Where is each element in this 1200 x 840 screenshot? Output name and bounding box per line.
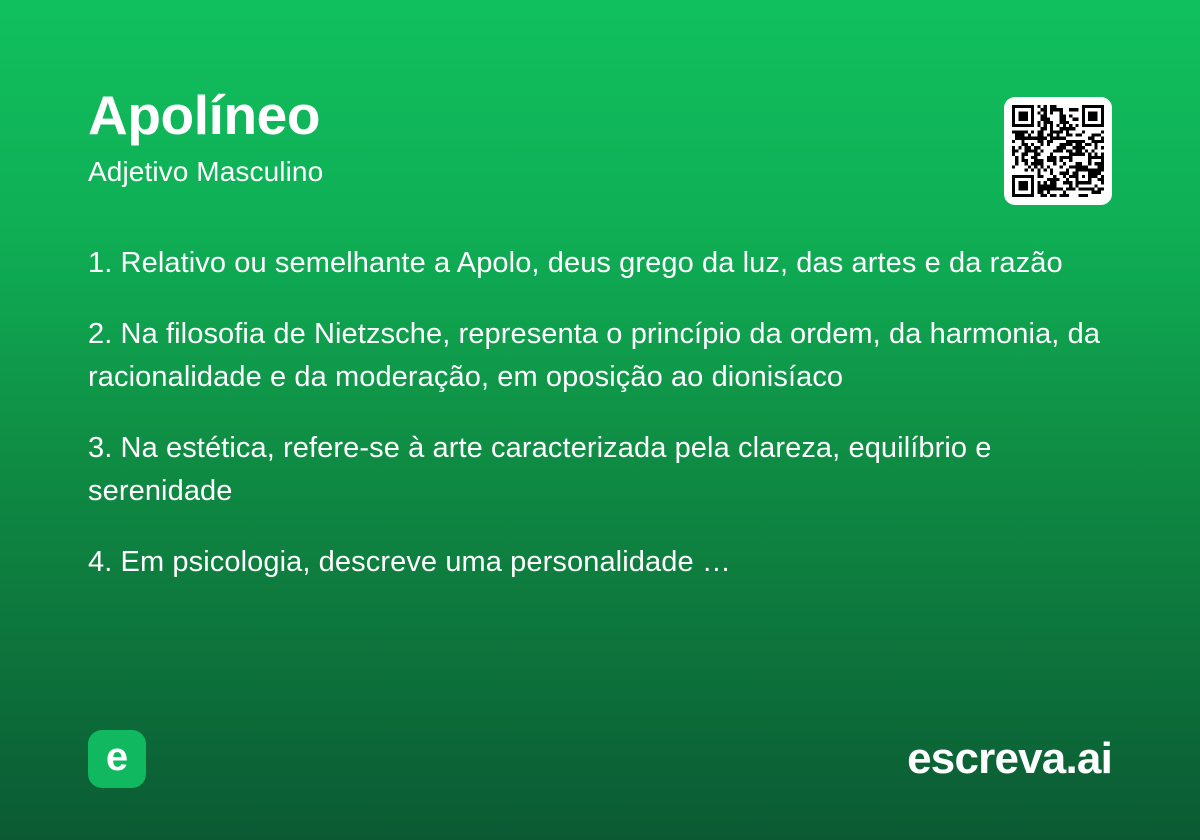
definition-list: 1. Relativo ou semelhante a Apolo, deus …	[88, 242, 1112, 584]
part-of-speech-label: Adjetivo Masculino	[88, 156, 1112, 188]
card-header: Apolíneo Adjetivo Masculino	[88, 88, 1112, 218]
page-title: Apolíneo	[88, 88, 1112, 143]
logo-letter: e	[106, 737, 128, 777]
qr-code-icon[interactable]	[1004, 97, 1112, 205]
definition-item: 1. Relativo ou semelhante a Apolo, deus …	[88, 242, 1108, 285]
escreva-logo-icon[interactable]: e	[88, 730, 146, 788]
dictionary-card: Apolíneo Adjetivo Masculino 1. Relativo …	[0, 0, 1200, 840]
brand-wordmark: escreva.ai	[907, 737, 1112, 781]
definition-item: 4. Em psicologia, descreve uma personali…	[88, 541, 1108, 584]
definition-item: 2. Na filosofia de Nietzsche, representa…	[88, 313, 1108, 399]
qr-code-canvas	[1012, 105, 1104, 197]
definition-item: 3. Na estética, refere-se à arte caracte…	[88, 427, 1108, 513]
card-footer: e escreva.ai	[88, 730, 1112, 788]
